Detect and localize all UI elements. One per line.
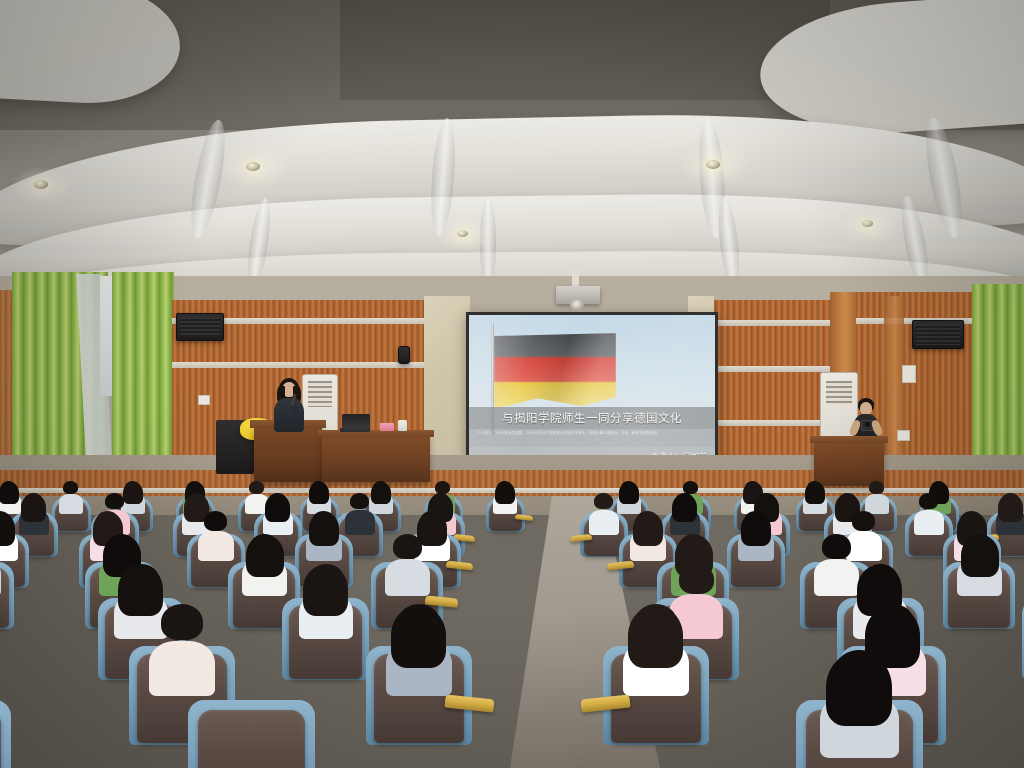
audience-head (63, 481, 78, 494)
audience-member (263, 491, 293, 532)
projection-screen-frame: 与揭阳学院师生一同分享德国文化 个人简介：1990年出生德国，2009年毕业于慕… (466, 312, 718, 478)
ceiling (0, 0, 1024, 300)
wall-notice-sign (902, 365, 916, 383)
audience-member (0, 508, 18, 558)
ceiling-downlight (457, 230, 468, 237)
audience-head (250, 534, 279, 559)
audience-member (630, 508, 666, 558)
camera-lens-icon (865, 422, 870, 427)
audience-head (393, 534, 422, 559)
seat-backrest (198, 710, 305, 768)
wall-outlet-plate (198, 395, 210, 405)
audience-head (621, 481, 636, 494)
audience-member (738, 508, 774, 558)
audience-head (965, 534, 994, 559)
audience-head (420, 511, 443, 531)
audience-head (636, 511, 659, 531)
ceiling-downlight (34, 180, 48, 189)
seat-shell (0, 700, 11, 768)
wall-trim (172, 362, 424, 368)
audience-member (345, 491, 375, 532)
audience-head (872, 604, 914, 640)
audience-member (149, 599, 215, 690)
audience-head (635, 604, 677, 640)
audience-head (105, 493, 124, 509)
audience-member (19, 491, 49, 532)
presenter (270, 378, 308, 428)
audience-head (679, 534, 708, 559)
audience-member (957, 530, 1002, 592)
ceiling-downlight (862, 220, 873, 227)
audience-head (675, 493, 694, 509)
audience-head (1001, 493, 1020, 509)
audience-torso (198, 531, 234, 561)
wall-speaker-right (912, 320, 964, 349)
audience-head (249, 481, 264, 494)
audience-member (299, 559, 353, 634)
audience-head (807, 481, 822, 494)
audience-member (242, 530, 287, 592)
audience-head (311, 481, 326, 494)
wall-speaker-left (176, 313, 224, 341)
audience-head (838, 493, 857, 509)
audience-head (350, 493, 369, 509)
wall-trim (710, 366, 830, 372)
ceiling-recess-deep (340, 0, 830, 100)
speaker-grille (916, 324, 960, 345)
audience-head (919, 493, 938, 509)
audience-member (589, 491, 619, 532)
ceiling-downlight (246, 162, 260, 171)
wall-trim (710, 420, 830, 426)
projector-mount (572, 268, 579, 288)
pink-box (380, 423, 394, 431)
wall-trim (710, 320, 830, 326)
audience-member (385, 530, 430, 592)
audience-head (187, 493, 206, 509)
audience-member (820, 643, 899, 752)
audience-member (914, 491, 944, 532)
audience-head (863, 564, 898, 594)
audience-member (803, 479, 827, 512)
audience-torso (149, 641, 215, 696)
audience-head (309, 564, 344, 594)
audience-head (594, 493, 613, 509)
audience-head (1, 481, 16, 494)
audience-member (996, 491, 1024, 532)
ceiling-downlight (706, 160, 720, 169)
audience-head (124, 564, 159, 594)
audience-torso (0, 559, 1, 596)
audience-torso (589, 510, 619, 535)
audience-member (198, 508, 234, 558)
wall-outlet-plate (897, 430, 910, 441)
projection-screen: 与揭阳学院师生一同分享德国文化 个人简介：1990年出生德国，2009年毕业于慕… (469, 315, 715, 475)
audience-head (96, 511, 119, 531)
stage-table-top (318, 430, 434, 437)
light-glow (840, 208, 900, 246)
audience-head (834, 650, 885, 694)
seat-backrest (0, 567, 9, 628)
speaker-grille (180, 317, 220, 337)
water-bottle (398, 420, 407, 431)
audience-torso (385, 559, 430, 596)
audience-head (431, 493, 450, 509)
audience-head (960, 511, 983, 531)
audience-head (744, 511, 767, 531)
audience-head (312, 511, 335, 531)
side-table-right-top (810, 436, 888, 443)
audience-member (306, 508, 342, 558)
audience-member (59, 479, 83, 512)
ac-vent (308, 381, 332, 407)
stage-table (322, 434, 430, 482)
auditorium-seat[interactable] (188, 700, 315, 768)
audience-head (373, 481, 388, 494)
audience-head (398, 604, 440, 640)
audience-head (822, 534, 851, 559)
audience-head (24, 493, 43, 509)
audience-torso (345, 510, 375, 535)
audience-head (497, 481, 512, 494)
audience-head (161, 604, 203, 640)
audience-torso (59, 494, 83, 514)
audience-head (107, 534, 136, 559)
audience-head (268, 493, 287, 509)
small-speaker-stage (398, 346, 410, 364)
audience-head (757, 493, 776, 509)
audience-member (493, 479, 517, 512)
audience-member (386, 599, 452, 690)
auditorium-seat[interactable] (0, 700, 11, 768)
laptop-screen (342, 414, 370, 429)
audience-head (869, 481, 884, 494)
projector-lens (570, 300, 584, 310)
audience-member (623, 599, 689, 690)
audience-member (0, 530, 1, 592)
screen-glare (469, 315, 715, 475)
auditorium-seat[interactable] (0, 562, 14, 629)
audience-head (679, 564, 714, 594)
audience-torso (914, 510, 944, 535)
lecture-hall-photo: 与揭阳学院师生一同分享德国文化 个人简介：1990年出生德国，2009年毕业于慕… (0, 0, 1024, 768)
audience-member (670, 491, 700, 532)
podium (254, 424, 322, 482)
audience-head (204, 511, 227, 531)
audience-head (852, 511, 875, 531)
